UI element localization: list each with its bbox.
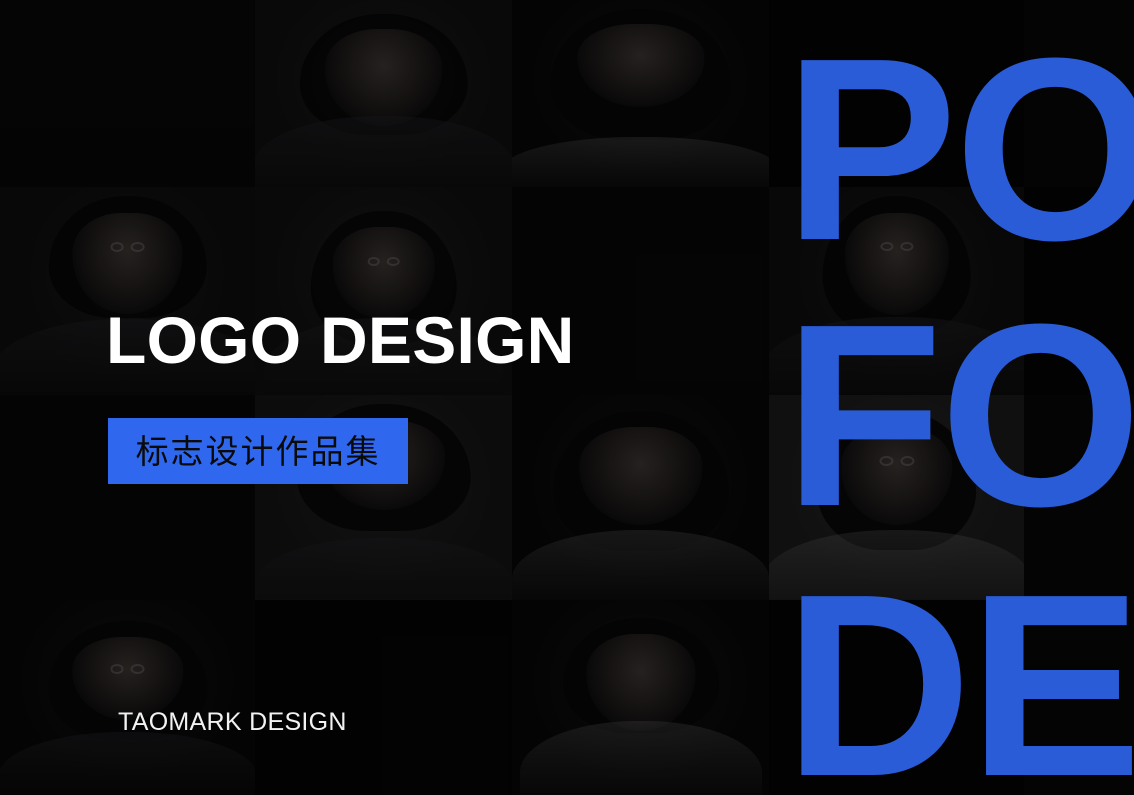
brand-name: TAOMARK DESIGN bbox=[118, 708, 347, 737]
portrait-figure bbox=[512, 600, 769, 795]
portrait-person-round-glasses bbox=[769, 395, 1024, 600]
portrait-figure bbox=[512, 0, 769, 187]
photo-empty-r3c5 bbox=[1024, 395, 1134, 600]
portrait-man-glasses-right bbox=[769, 187, 1024, 395]
eyeglasses-icon bbox=[110, 664, 145, 674]
portrait-woman-long-hair bbox=[512, 0, 769, 187]
portrait-woman-straight-hair bbox=[512, 600, 769, 795]
portrait-figure bbox=[255, 0, 512, 187]
subtitle-badge: 标志设计作品集 bbox=[108, 418, 408, 484]
portrait-figure bbox=[769, 395, 1024, 600]
subtitle-badge-label: 标志设计作品集 bbox=[136, 435, 381, 468]
eyeglasses-icon bbox=[880, 242, 913, 251]
photo-mosaic-grid bbox=[0, 0, 1134, 795]
eyeglasses-icon bbox=[879, 456, 914, 466]
photo-empty-r4c5 bbox=[1024, 600, 1134, 795]
photo-empty-r4c4 bbox=[769, 600, 1024, 795]
poster-canvas: PO FO DE LOGO DESIGN 标志设计作品集 TAOMARK DES… bbox=[0, 0, 1134, 795]
eyeglasses-icon bbox=[110, 242, 145, 252]
portrait-figure bbox=[769, 187, 1024, 395]
photo-empty-r1c4 bbox=[769, 0, 1024, 187]
portrait-woman-white-shirt bbox=[255, 0, 512, 187]
portrait-woman-glasses-smiling bbox=[0, 600, 255, 795]
photo-empty-r1c1 bbox=[0, 0, 255, 187]
portrait-figure bbox=[0, 600, 255, 795]
photo-empty-r4c2 bbox=[255, 600, 512, 795]
portrait-shoulders bbox=[512, 137, 769, 187]
portrait-woman-blue-collar bbox=[512, 395, 769, 600]
photo-empty-r1c5 bbox=[1024, 0, 1134, 187]
page-title: LOGO DESIGN bbox=[106, 305, 575, 376]
portrait-figure bbox=[512, 395, 769, 600]
photo-empty-r2c5 bbox=[1024, 187, 1134, 395]
eyeglasses-icon bbox=[367, 257, 400, 266]
